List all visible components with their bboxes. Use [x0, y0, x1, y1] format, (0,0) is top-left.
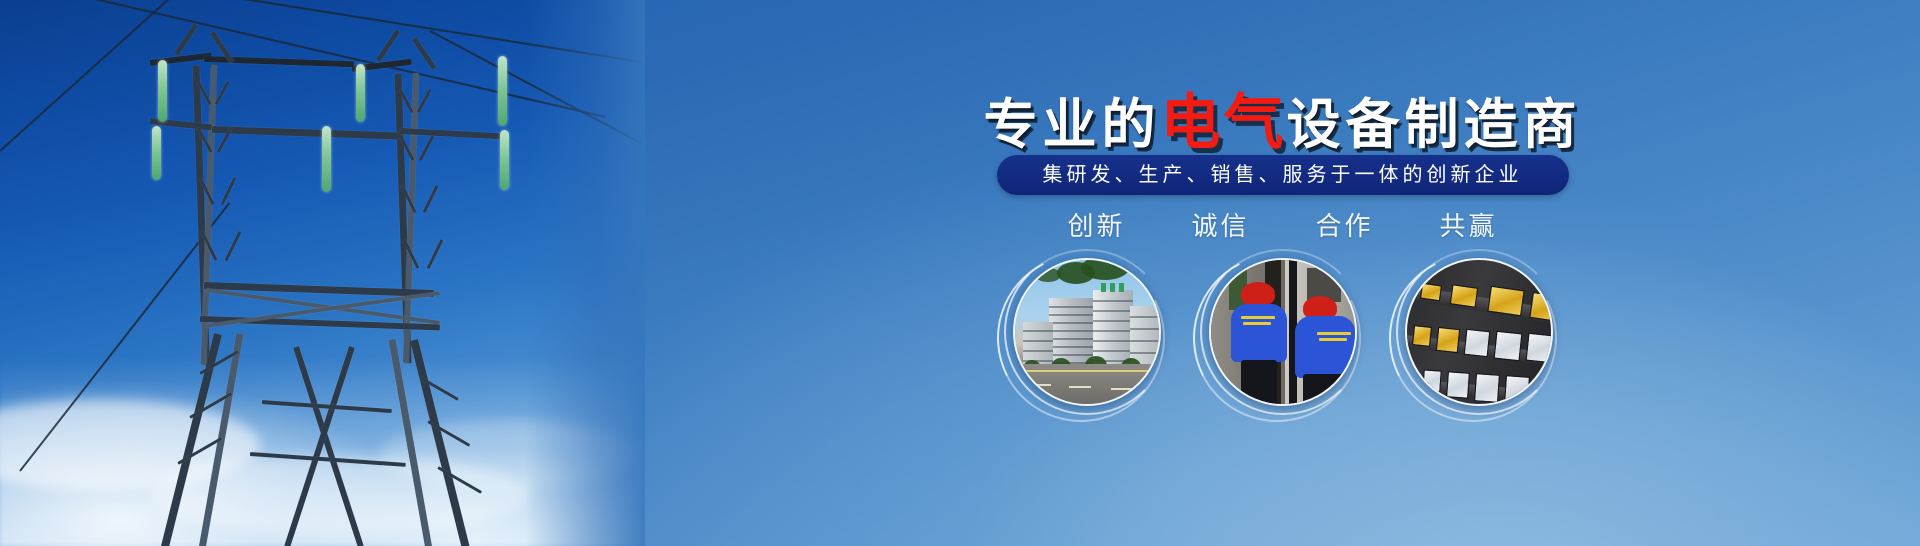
keyword-item: 创新 [1067, 206, 1125, 243]
headline-highlight: 电气 [1161, 89, 1287, 156]
photo-frame [1405, 258, 1553, 406]
certificate-wall-image [1407, 260, 1551, 404]
office-building-image [1015, 260, 1159, 404]
subtitle-pill: 集研发、生产、销售、服务于一体的创新企业 [997, 155, 1569, 195]
keyword-item: 诚信 [1191, 206, 1249, 243]
subtitle-text: 集研发、生产、销售、服务于一体的创新企业 [1043, 164, 1523, 186]
keyword-item: 共赢 [1440, 206, 1498, 243]
photo-frame [1013, 258, 1161, 406]
photo-circle-row [645, 258, 1920, 418]
page-title: 专业的电气设备制造商 [645, 74, 1920, 161]
keyword-list: 创新诚信合作共赢 [645, 206, 1920, 243]
photo-frame [1209, 258, 1357, 406]
promo-banner: 专业的电气设备制造商 集研发、生产、销售、服务于一体的创新企业 创新诚信合作共赢 [0, 0, 1920, 546]
photo-circle-certificate-wall [1405, 258, 1553, 406]
photo-circle-office-building [1013, 258, 1161, 406]
workers-electrical-cabinet-image [1211, 260, 1355, 404]
photo-circle-workers [1209, 258, 1357, 406]
road [1015, 364, 1159, 404]
headline-part-1: 专业的 [984, 95, 1161, 155]
headline-part-2: 设备制造商 [1287, 95, 1582, 155]
banner-content: 专业的电气设备制造商 集研发、生产、销售、服务于一体的创新企业 创新诚信合作共赢 [645, 0, 1920, 546]
pylon-structure [0, 0, 645, 546]
transmission-tower-photo [0, 0, 645, 546]
keyword-item: 合作 [1316, 206, 1374, 243]
